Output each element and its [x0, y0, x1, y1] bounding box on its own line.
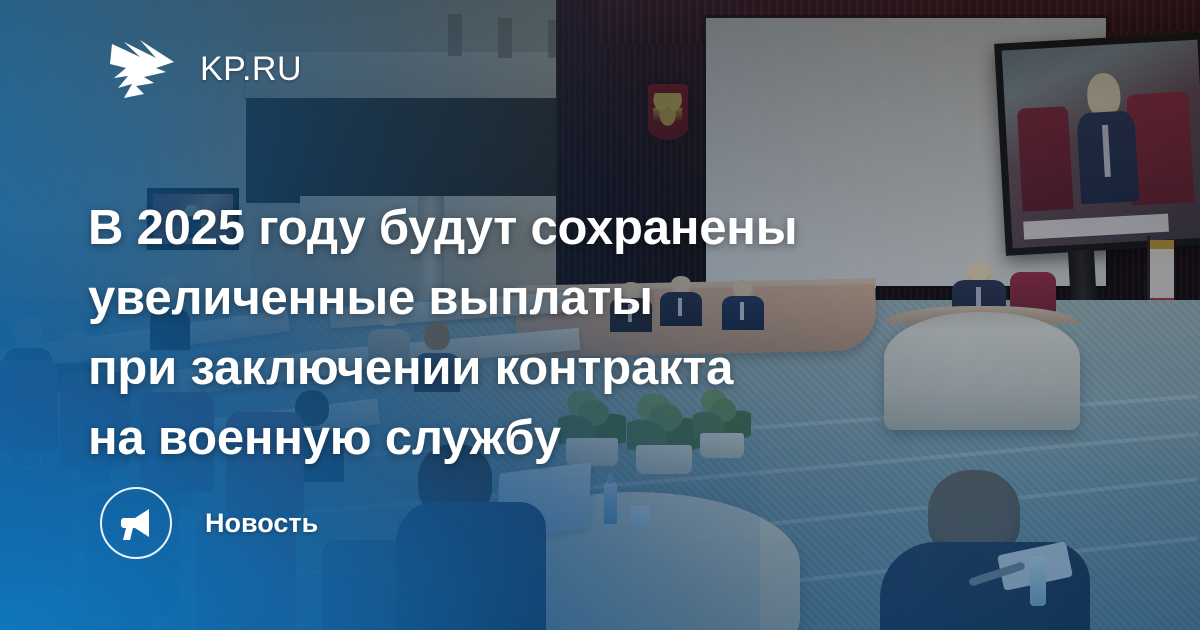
card-content: KP.RU В 2025 году будут сохранены увелич…	[0, 0, 1200, 630]
news-share-card: KP.RU В 2025 году будут сохранены увелич…	[0, 0, 1200, 630]
headline-line-2: увеличенные выплаты	[88, 263, 988, 333]
headline-line-4: на военную службу	[88, 403, 988, 473]
swallow-bird-icon	[110, 38, 184, 100]
badge-label: Новость	[205, 510, 318, 537]
brand-name: KP.RU	[200, 52, 302, 86]
brand-lockup[interactable]: KP.RU	[110, 38, 302, 100]
headline-line-1: В 2025 году будут сохранены	[88, 193, 988, 263]
badge-icon-circle	[100, 487, 172, 559]
megaphone-icon	[116, 503, 156, 543]
page-title: В 2025 году будут сохранены увеличенные …	[88, 193, 988, 473]
status-badge[interactable]: Новость	[100, 487, 318, 559]
headline-line-3: при заключении контракта	[88, 333, 988, 403]
